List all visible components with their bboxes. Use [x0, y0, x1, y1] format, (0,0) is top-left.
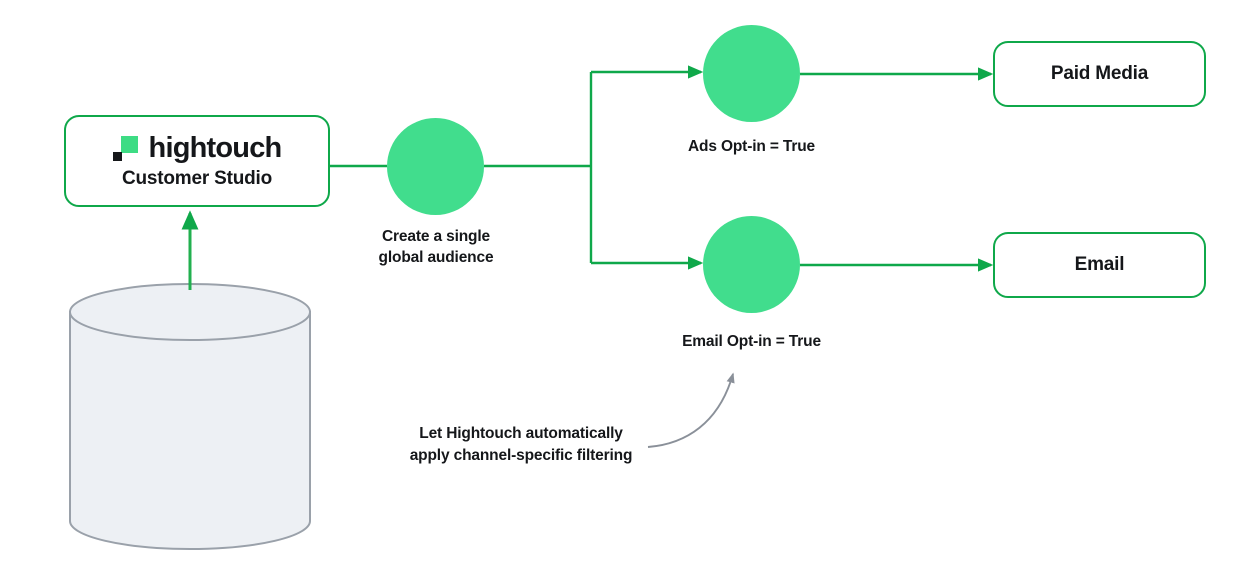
audience-node-ads[interactable]: [703, 25, 800, 122]
caption-email-optin: Email Opt-in = True: [651, 331, 852, 352]
hightouch-logo-icon: [113, 135, 140, 162]
destination-label-paid-media: Paid Media: [1051, 63, 1148, 85]
customer-studio-label: Customer Studio: [122, 169, 272, 188]
diagram-canvas: hightouch Customer Studio Create a singl…: [0, 0, 1236, 583]
audience-node-global[interactable]: [387, 118, 484, 215]
destination-node-paid-media[interactable]: Paid Media: [993, 41, 1206, 107]
caption-ads-optin: Ads Opt-in = True: [651, 136, 852, 157]
database-cylinder-icon: [70, 284, 310, 549]
destination-node-email[interactable]: Email: [993, 232, 1206, 298]
customer-studio-node[interactable]: hightouch Customer Studio: [64, 115, 330, 207]
destination-label-email: Email: [1075, 254, 1125, 276]
annotation-text: Let Hightouch automatically apply channe…: [371, 423, 671, 468]
hightouch-wordmark: hightouch: [149, 134, 282, 163]
annotation-line1: Let Hightouch automatically: [419, 425, 623, 442]
annotation-line2: apply channel-specific filtering: [410, 447, 633, 464]
caption-global-audience: Create a single global audience: [355, 226, 517, 269]
audience-node-email[interactable]: [703, 216, 800, 313]
hightouch-logo: hightouch: [113, 134, 282, 163]
caption-global-line2: global audience: [379, 249, 494, 266]
caption-global-line1: Create a single: [382, 228, 490, 245]
